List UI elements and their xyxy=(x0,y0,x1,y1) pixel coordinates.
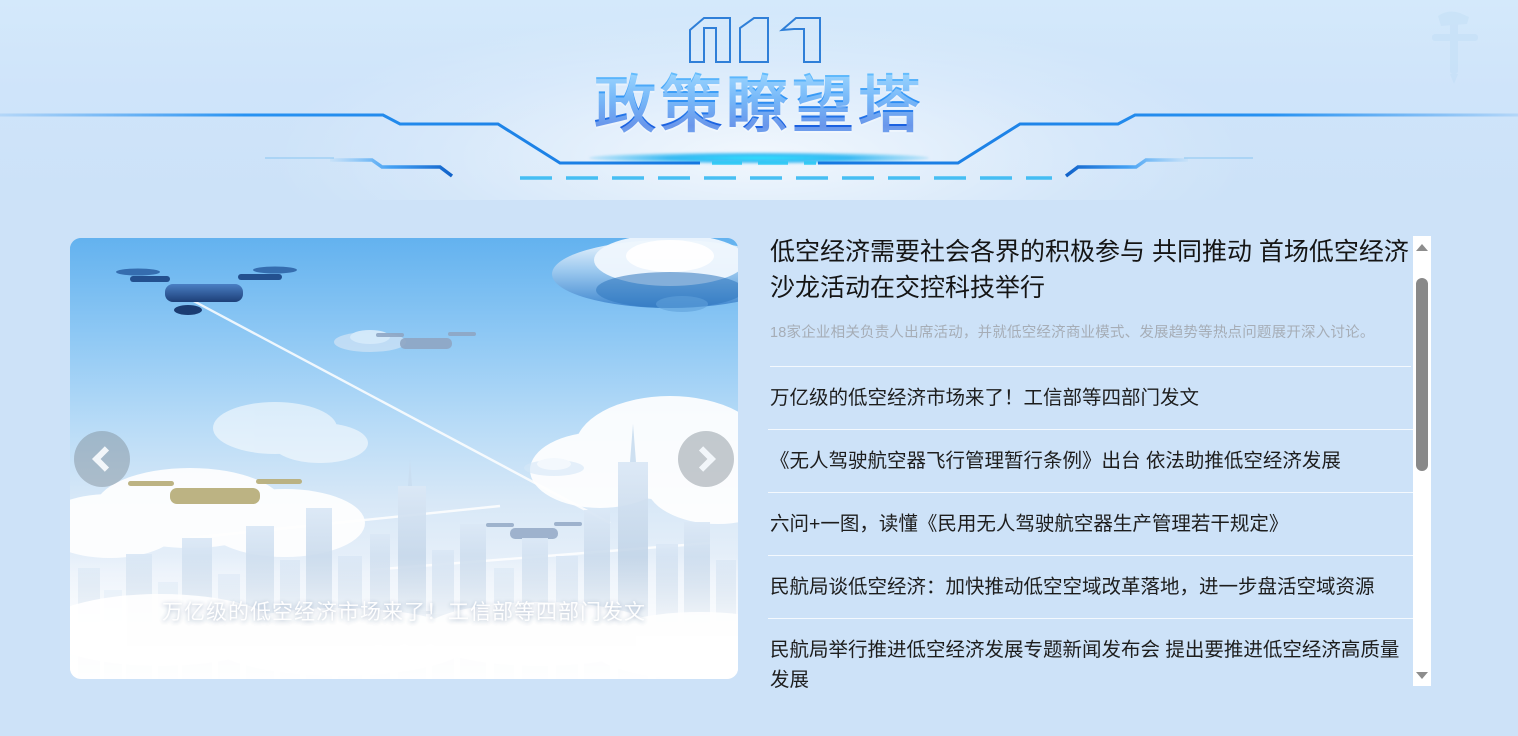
news-list: 万亿级的低空经济市场来了！工信部等四部门发文 《无人驾驶航空器飞行管理暂行条例》… xyxy=(768,367,1413,704)
featured-news-title[interactable]: 低空经济需要社会各界的积极参与 共同推动 首场低空经济沙龙活动在交控科技举行 xyxy=(770,234,1409,306)
banner-tech-lines-decoration xyxy=(0,0,1518,200)
scrollbar-down-button[interactable] xyxy=(1413,664,1431,686)
chevron-right-icon xyxy=(690,446,715,471)
triangle-down-icon xyxy=(1416,672,1428,679)
triangle-up-icon xyxy=(1416,244,1428,251)
carousel-dot-3[interactable] xyxy=(424,644,437,657)
news-list-item[interactable]: 六问+一图，读懂《民用无人驾驶航空器生产管理若干规定》 xyxy=(768,493,1413,556)
carousel-caption: 万亿级的低空经济市场来了！工信部等四部门发文 xyxy=(70,599,738,627)
news-list-item[interactable]: 《无人驾驶航空器飞行管理暂行条例》出台 依法助推低空经济发展 xyxy=(768,430,1413,493)
carousel-prev-button[interactable] xyxy=(74,431,130,487)
news-scrollbar[interactable] xyxy=(1413,236,1431,686)
carousel-dots[interactable] xyxy=(70,644,738,657)
featured-news-summary: 18家企业相关负责人出席活动，并就低空经济商业模式、发展趋势等热点问题展开深入讨… xyxy=(770,322,1409,344)
news-list-panel: 低空经济需要社会各界的积极参与 共同推动 首场低空经济沙龙活动在交控科技举行 1… xyxy=(768,234,1413,704)
news-carousel[interactable]: 万亿级的低空经济市场来了！工信部等四部门发文 xyxy=(70,238,738,679)
news-list-item[interactable]: 民航局谈低空经济：加快推动低空空域改革落地，进一步盘活空域资源 xyxy=(768,556,1413,619)
page-banner: 政策瞭望塔 xyxy=(0,0,1518,200)
flying-saucer xyxy=(552,238,738,312)
scrollbar-up-button[interactable] xyxy=(1413,236,1431,258)
news-list-item[interactable]: 民航局举行推进低空经济发展专题新闻发布会 提出要推进低空经济高质量发展 xyxy=(768,619,1413,704)
scrollbar-thumb[interactable] xyxy=(1416,278,1428,471)
featured-news[interactable]: 低空经济需要社会各界的积极参与 共同推动 首场低空经济沙龙活动在交控科技举行 1… xyxy=(768,234,1413,344)
news-list-item[interactable]: 万亿级的低空经济市场来了！工信部等四部门发文 xyxy=(768,367,1413,430)
carousel-next-button[interactable] xyxy=(678,431,734,487)
chevron-left-icon xyxy=(92,446,117,471)
carousel-dot-1[interactable] xyxy=(372,644,385,657)
carousel-dot-2[interactable] xyxy=(398,644,411,657)
main-content: 万亿级的低空经济市场来了！工信部等四部门发文 低空经济需要社会各界的积极参与 共… xyxy=(0,200,1518,736)
